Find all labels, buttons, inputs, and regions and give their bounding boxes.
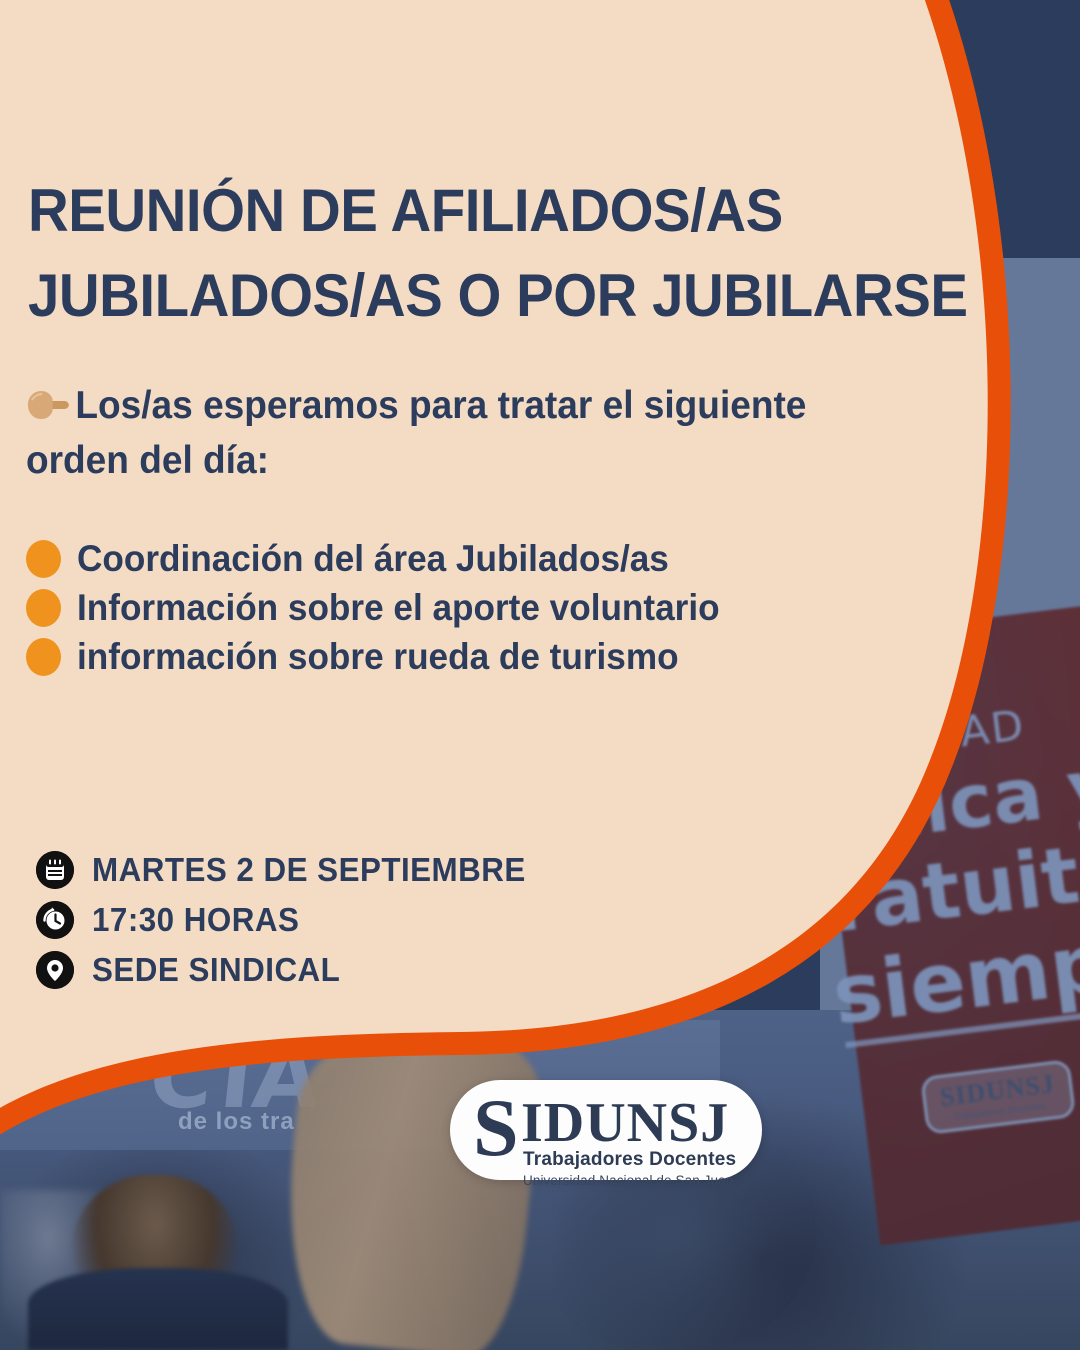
location-pin-icon [36,951,74,989]
bullet-dot-icon [26,540,61,578]
detail-row-location: SEDE SINDICAL [36,945,549,995]
lead-text-line-2: orden del día: [26,433,862,488]
logo-institution: Universidad Nacional de San Juan [523,1173,733,1188]
logo-inner: S IDUNSJ Trabajadores Docentes Universid… [473,1089,739,1171]
clock-icon [36,901,74,939]
bullet-dot-icon [26,589,61,627]
lead-paragraph: Los/as esperamos para tratar el siguient… [26,378,862,489]
page-title-line-2: JUBILADOS/AS O POR JUBILARSE [28,253,874,338]
sidunsj-logo: S IDUNSJ Trabajadores Docentes Universid… [450,1080,762,1180]
lead-text-line-1: Los/as esperamos para tratar el siguient… [75,384,806,427]
list-item: Coordinación del área Jubilados/as [26,534,926,583]
event-details: MARTES 2 DE SEPTIEMBRE 17:30 HORAS [36,845,549,995]
poster-content: REUNIÓN DE AFILIADOS/AS JUBILADOS/AS O P… [0,0,1080,1350]
detail-row-date: MARTES 2 DE SEPTIEMBRE [36,845,549,895]
agenda-item-label: Coordinación del área Jubilados/as [77,540,669,577]
event-location-text: SEDE SINDICAL [92,951,340,989]
agenda-item-label: información sobre rueda de turismo [77,638,679,675]
poster-canvas: CTA de los tra RSIDAD blica y ratuita si… [0,0,1080,1350]
agenda-item-label: Información sobre el aporte voluntario [77,589,720,626]
calendar-icon [36,851,74,889]
agenda-list: Coordinación del área Jubilados/as Infor… [26,534,926,681]
detail-row-time: 17:30 HORAS [36,895,549,945]
event-date-text: MARTES 2 DE SEPTIEMBRE [92,851,526,889]
list-item: información sobre rueda de turismo [26,632,926,681]
list-item: Información sobre el aporte voluntario [26,583,926,632]
page-title-line-1: REUNIÓN DE AFILIADOS/AS [28,168,874,253]
pointing-right-icon [26,388,70,422]
page-title: REUNIÓN DE AFILIADOS/AS JUBILADOS/AS O P… [28,168,874,338]
logo-initial: S [473,1087,519,1169]
logo-subtitle: Trabajadores Docentes [523,1149,736,1171]
bullet-dot-icon [26,638,61,676]
logo-wordmark: IDUNSJ [521,1095,729,1151]
event-time-text: 17:30 HORAS [92,901,299,939]
